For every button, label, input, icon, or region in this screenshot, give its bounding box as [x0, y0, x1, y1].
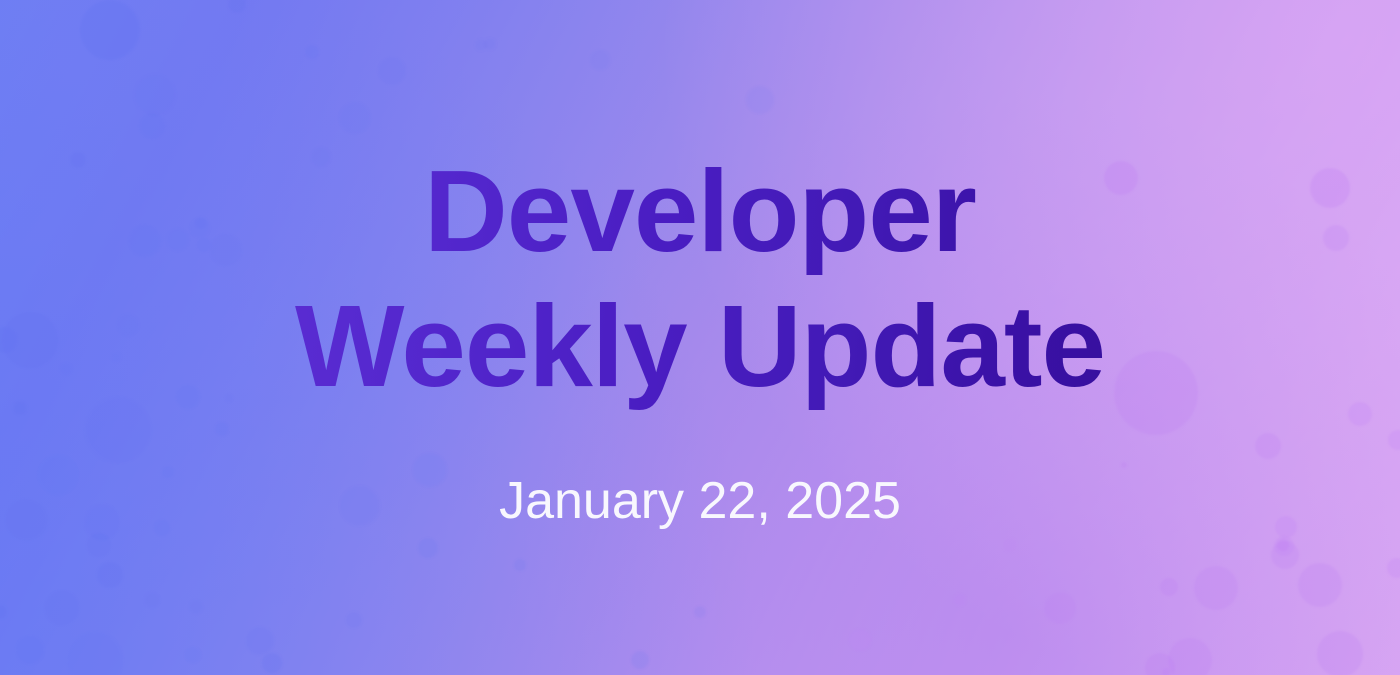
- issue-date: January 22, 2025: [499, 471, 901, 531]
- weekly-update-banner: Developer Weekly Update January 22, 2025: [0, 0, 1400, 675]
- banner-content: Developer Weekly Update January 22, 2025: [0, 0, 1400, 675]
- page-title: Developer Weekly Update: [295, 144, 1105, 413]
